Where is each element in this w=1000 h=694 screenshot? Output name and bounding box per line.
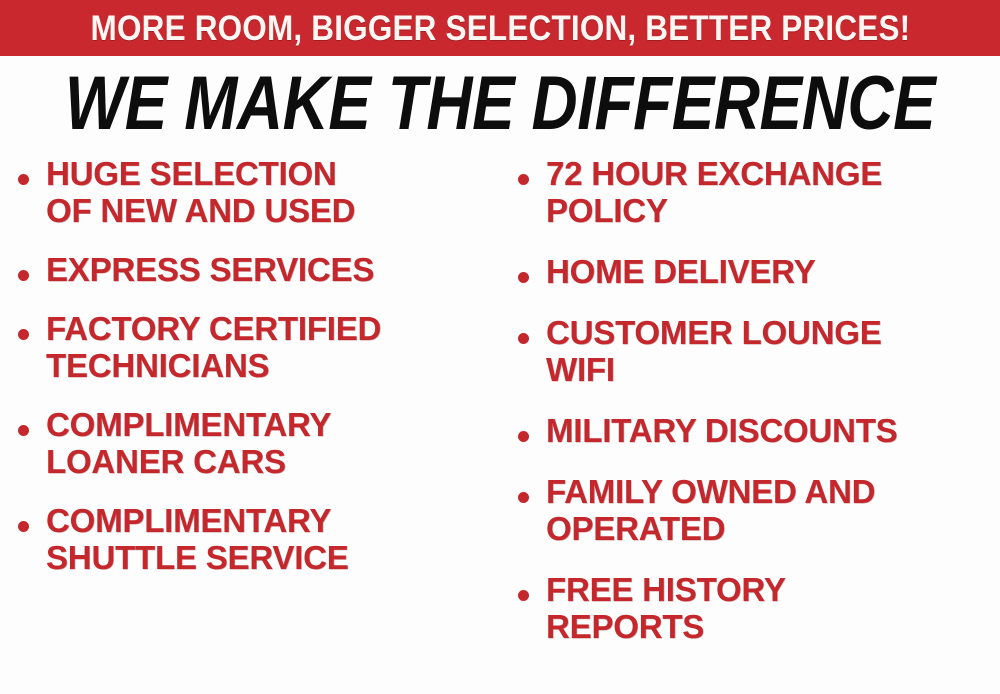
bullet-dot-icon [518, 431, 529, 442]
bullet-dot-icon [18, 270, 29, 281]
bullet-dot-icon [18, 425, 29, 436]
list-item-label: 72 HOUR EXCHANGE POLICY [546, 156, 882, 230]
bullet-dot-icon [18, 521, 29, 532]
list-item-label: MILITARY DISCOUNTS [546, 413, 897, 450]
bullet-dot-icon [18, 174, 29, 185]
list-item-label: HUGE SELECTION OF NEW AND USED [46, 156, 355, 230]
bullet-dot-icon [518, 174, 529, 185]
list-item-label: FACTORY CERTIFIED TECHNICIANS [46, 311, 381, 385]
bullet-dot-icon [518, 272, 529, 283]
list-item-label: CUSTOMER LOUNGE WIFI [546, 315, 882, 389]
list-item: CUSTOMER LOUNGE WIFI [518, 315, 1000, 389]
list-item: 72 HOUR EXCHANGE POLICY [518, 156, 1000, 230]
headline-container: WE MAKE THE DIFFERENCE [0, 62, 1000, 146]
top-banner: MORE ROOM, BIGGER SELECTION, BETTER PRIC… [0, 0, 1000, 56]
feature-columns: HUGE SELECTION OF NEW AND USED EXPRESS S… [0, 156, 1000, 694]
list-item-label: EXPRESS SERVICES [46, 252, 374, 289]
list-item-label: COMPLIMENTARY SHUTTLE SERVICE [46, 503, 349, 577]
list-item: FREE HISTORY REPORTS [518, 572, 1000, 646]
list-item: EXPRESS SERVICES [18, 252, 500, 289]
list-item: MILITARY DISCOUNTS [518, 413, 1000, 450]
list-item: COMPLIMENTARY LOANER CARS [18, 407, 500, 481]
list-item: FACTORY CERTIFIED TECHNICIANS [18, 311, 500, 385]
bullet-dot-icon [18, 329, 29, 340]
bullet-dot-icon [518, 590, 529, 601]
list-item: COMPLIMENTARY SHUTTLE SERVICE [18, 503, 500, 577]
list-item-label: COMPLIMENTARY LOANER CARS [46, 407, 331, 481]
list-item-label: FAMILY OWNED AND OPERATED [546, 474, 875, 548]
promo-banner-page: MORE ROOM, BIGGER SELECTION, BETTER PRIC… [0, 0, 1000, 694]
list-item: FAMILY OWNED AND OPERATED [518, 474, 1000, 548]
bullet-dot-icon [518, 492, 529, 503]
list-item-label: HOME DELIVERY [546, 254, 815, 291]
page-title: WE MAKE THE DIFFERENCE [65, 66, 935, 142]
list-item: HUGE SELECTION OF NEW AND USED [18, 156, 500, 230]
list-item: HOME DELIVERY [518, 254, 1000, 291]
feature-column-left: HUGE SELECTION OF NEW AND USED EXPRESS S… [18, 156, 500, 599]
bullet-dot-icon [518, 333, 529, 344]
list-item-label: FREE HISTORY REPORTS [546, 572, 786, 646]
feature-column-right: 72 HOUR EXCHANGE POLICY HOME DELIVERY CU… [518, 156, 1000, 670]
top-banner-text: MORE ROOM, BIGGER SELECTION, BETTER PRIC… [90, 11, 910, 46]
